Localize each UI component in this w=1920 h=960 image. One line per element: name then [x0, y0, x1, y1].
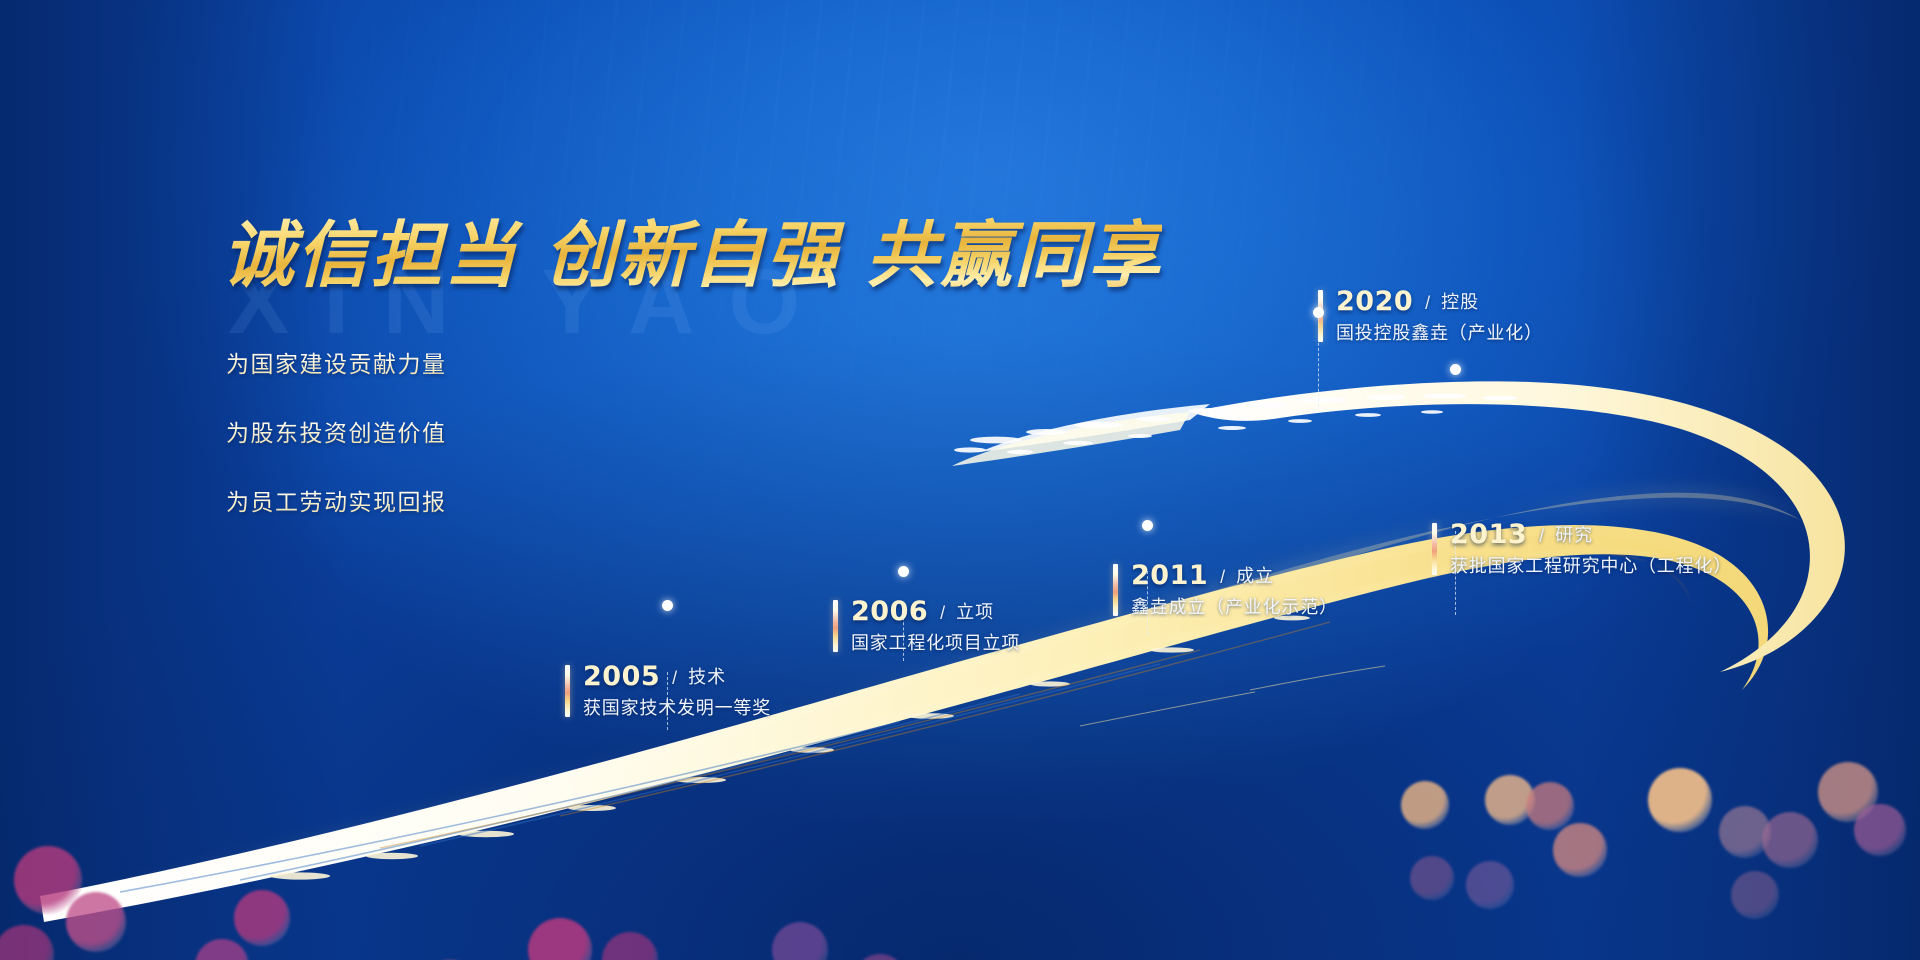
milestone-heading: 2005/技术: [565, 663, 771, 690]
milestone-heading: 2006/立项: [833, 598, 1020, 625]
milestone-tag: 控股: [1441, 288, 1479, 315]
milestone-connector-line: [1147, 571, 1148, 635]
milestone-separator: /: [667, 668, 681, 690]
subtitle-line: 为股东投资创造价值: [226, 414, 447, 448]
milestone-separator: /: [1534, 526, 1548, 548]
timeline-milestone[interactable]: 2020/控股国投控股鑫垚（产业化）: [1318, 288, 1543, 345]
milestone-accent-bar: [833, 600, 838, 652]
bokeh-circle: [1526, 782, 1574, 830]
milestone-separator: /: [1215, 567, 1229, 589]
milestone-year: 2006: [833, 598, 928, 625]
milestone-separator: /: [935, 603, 949, 625]
milestone-accent-bar: [565, 665, 570, 717]
bokeh-circle: [1731, 871, 1779, 919]
timeline-milestone[interactable]: 2005/技术获国家技术发明一等奖: [565, 663, 771, 720]
bokeh-circle: [1762, 812, 1818, 868]
milestone-heading: 2020/控股: [1318, 288, 1543, 315]
timeline-milestone[interactable]: 2013/研究获批国家工程研究中心（工程化）: [1432, 521, 1732, 578]
page-title: 诚信担当创新自强共赢同享: [222, 196, 1162, 301]
milestone-separator: /: [1420, 293, 1434, 315]
bokeh-circle: [1553, 823, 1607, 877]
timeline-milestone[interactable]: 2006/立项国家工程化项目立项: [833, 598, 1020, 655]
bokeh-circle: [234, 890, 290, 946]
subtitle-line: 为国家建设贡献力量: [226, 345, 447, 379]
milestone-tag: 成立: [1236, 562, 1274, 589]
milestone-year: 2011: [1113, 562, 1208, 589]
milestone-tag: 立项: [956, 598, 994, 625]
subtitle-line: 为员工劳动实现回报: [226, 483, 447, 517]
bokeh-circle: [1401, 781, 1449, 829]
milestone-dot[interactable]: [1142, 520, 1153, 531]
milestone-connector-line: [667, 672, 668, 730]
poster-canvas: XIN YAO 诚信担当创新自强共赢同享 为国家建设贡献力量 为股东投资创造价值…: [0, 0, 1920, 960]
milestone-description: 国家工程化项目立项: [833, 629, 1020, 655]
milestone-year: 2013: [1432, 521, 1527, 548]
milestone-dot[interactable]: [662, 600, 673, 611]
bokeh-circle: [1466, 861, 1514, 909]
milestone-description: 获国家技术发明一等奖: [565, 694, 771, 720]
bokeh-circle: [1854, 804, 1906, 856]
headline-part-3: 共赢同享: [866, 213, 1162, 297]
milestone-dot[interactable]: [1450, 364, 1461, 375]
milestone-tag: 技术: [688, 663, 726, 690]
milestone-accent-bar: [1113, 564, 1118, 616]
milestone-connector-line: [1455, 531, 1456, 615]
milestone-dot[interactable]: [1313, 307, 1324, 318]
milestone-description: 国投控股鑫垚（产业化）: [1318, 319, 1543, 345]
milestone-description: 获批国家工程研究中心（工程化）: [1432, 552, 1732, 578]
milestone-dot[interactable]: [898, 566, 909, 577]
headline-part-2: 创新自强: [544, 213, 840, 297]
milestone-heading: 2013/研究: [1432, 521, 1732, 548]
subtitle-list: 为国家建设贡献力量 为股东投资创造价值 为员工劳动实现回报: [226, 345, 447, 552]
bokeh-circle: [1648, 768, 1712, 832]
milestone-accent-bar: [1432, 523, 1437, 575]
headline-part-1: 诚信担当: [222, 213, 518, 297]
bokeh-circle: [1410, 856, 1454, 900]
milestone-connector-line: [903, 607, 904, 661]
milestone-year: 2005: [565, 663, 660, 690]
milestone-year: 2020: [1318, 288, 1413, 315]
milestone-tag: 研究: [1555, 521, 1593, 548]
bokeh-circle: [66, 892, 126, 952]
